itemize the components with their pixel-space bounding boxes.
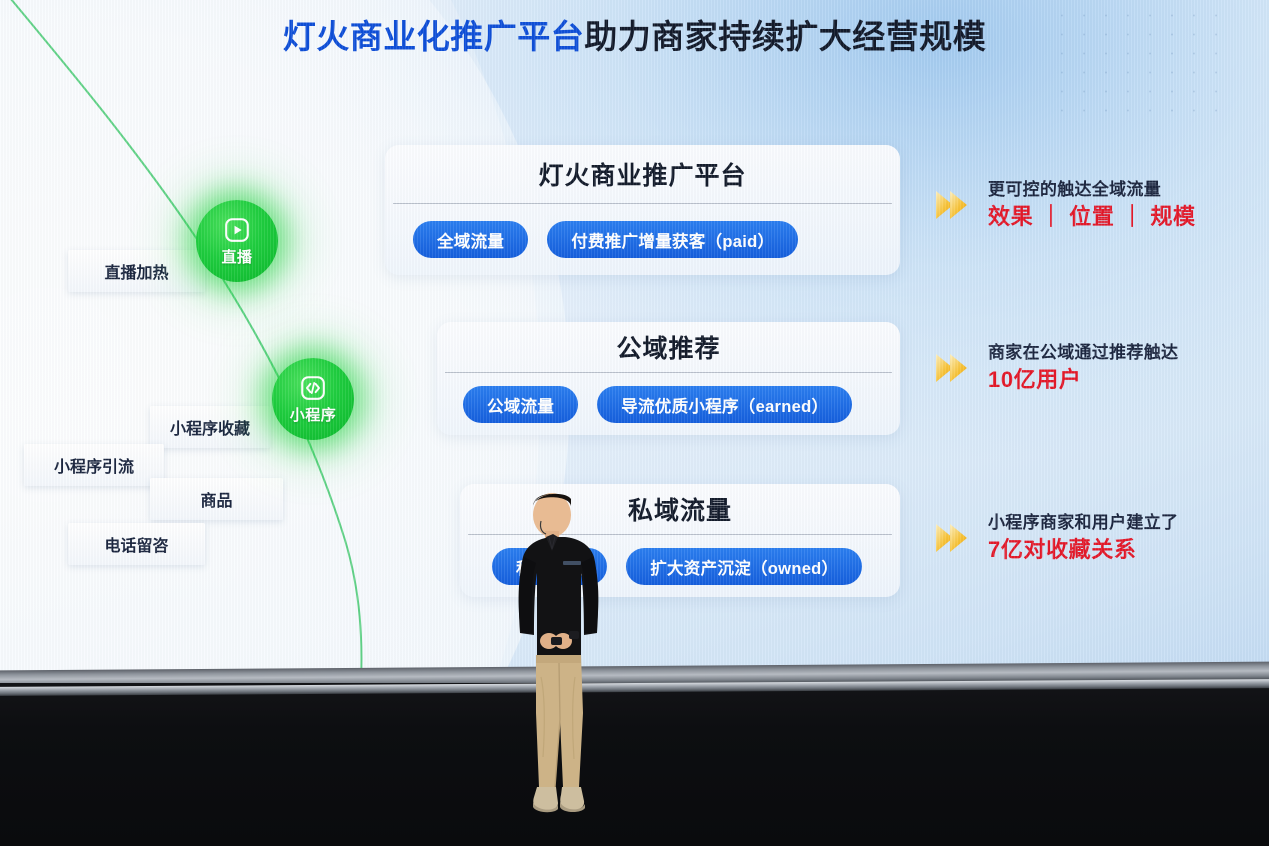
list-item: 小程序收藏 (150, 406, 270, 448)
double-chevron-right-icon (932, 185, 974, 225)
badge-traffic-type[interactable]: 付费推广增量获客（paid） (547, 221, 798, 258)
list-item: 商品 (150, 478, 283, 520)
highlight-bottom-line: 效果 ｜ 位置 ｜ 规模 (988, 204, 1196, 231)
tag-label: 电话留咨 (104, 532, 168, 556)
diagram-node-label: 小程序 (290, 404, 337, 425)
divider (445, 372, 892, 373)
card-pill-row: 全域流量 付费推广增量获客（paid） (385, 204, 900, 275)
badge-traffic-type[interactable]: 扩大资产沉淀（owned） (626, 548, 862, 585)
highlight-bottom-line: 7亿对收藏关系 (988, 537, 1178, 564)
divider (393, 203, 892, 204)
diagram-node-label: 直播 (221, 246, 252, 267)
list-item: 直播加热 (68, 250, 205, 292)
highlight-top-line: 小程序商家和用户建立了 (988, 513, 1178, 534)
highlight-text: 商家在公域通过推荐触达 10亿用户 (988, 343, 1178, 394)
badge-traffic-scope[interactable]: 全域流量 (413, 221, 528, 258)
highlight-text: 小程序商家和用户建立了 7亿对收藏关系 (988, 513, 1178, 564)
badge-traffic-type[interactable]: 导流优质小程序（earned） (597, 386, 852, 423)
card-pill-row: 公域流量 导流优质小程序（earned） (437, 373, 900, 435)
flow-card-paid[interactable]: 灯火商业推广平台 全域流量 付费推广增量获客（paid） (385, 145, 900, 275)
conference-stage-photo: 灯火商业化推广平台助力商家持续扩大经营规模 直播加热 小程序收藏 小程序引流 商… (0, 0, 1269, 846)
double-chevron-right-icon (932, 518, 974, 558)
highlight-bottom-line: 10亿用户 (988, 367, 1178, 394)
flow-card-earned[interactable]: 公域推荐 公域流量 导流优质小程序（earned） (437, 322, 900, 435)
double-chevron-right-icon (932, 348, 974, 388)
diagram-node-live[interactable]: 直播 (196, 200, 278, 282)
tag-label: 小程序收藏 (170, 415, 250, 439)
page-title: 灯火商业化推广平台助力商家持续扩大经营规模 (0, 10, 1269, 58)
presenter-person (505, 487, 625, 827)
highlight-top-line: 更可控的触达全域流量 (988, 180, 1196, 201)
page-title-highlight: 灯火商业化推广平台 (283, 18, 585, 55)
highlight-block-paid: 更可控的触达全域流量 效果 ｜ 位置 ｜ 规模 (932, 180, 1196, 231)
tag-label: 直播加热 (104, 259, 168, 283)
highlight-text: 更可控的触达全域流量 效果 ｜ 位置 ｜ 规模 (988, 180, 1196, 231)
highlight-block-owned: 小程序商家和用户建立了 7亿对收藏关系 (932, 513, 1178, 564)
diagram-node-miniprogram[interactable]: 小程序 (272, 358, 354, 440)
highlight-top-line: 商家在公域通过推荐触达 (988, 343, 1178, 364)
tag-label: 小程序引流 (54, 453, 134, 477)
page-title-rest: 助力商家持续扩大经营规模 (584, 18, 986, 55)
stage-floor (0, 683, 1269, 846)
list-item: 小程序引流 (24, 444, 164, 486)
live-play-icon (222, 215, 252, 245)
badge-traffic-scope[interactable]: 公域流量 (463, 386, 578, 423)
tag-label: 商品 (200, 487, 232, 511)
highlight-block-earned: 商家在公域通过推荐触达 10亿用户 (932, 343, 1178, 394)
list-item: 电话留咨 (68, 523, 205, 565)
led-presentation-screen: 灯火商业化推广平台助力商家持续扩大经营规模 直播加热 小程序收藏 小程序引流 商… (0, 0, 1269, 683)
mini-program-code-icon (298, 373, 328, 403)
card-title: 公域推荐 (437, 322, 900, 372)
green-arc-decoration (0, 0, 500, 683)
card-title: 灯火商业推广平台 (385, 145, 900, 203)
